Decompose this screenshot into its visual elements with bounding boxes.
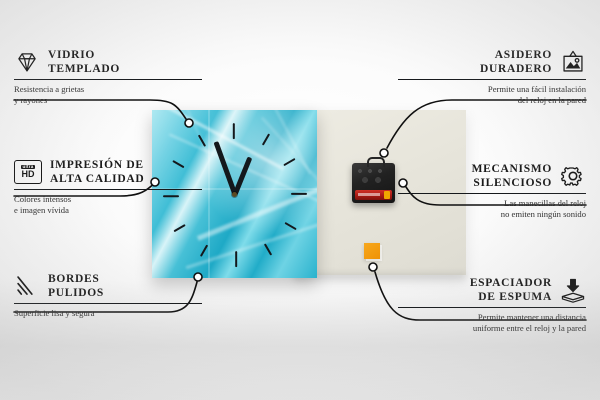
feature-description: Permite mantener una distancia uniforme … — [398, 312, 586, 333]
feature-divider — [14, 79, 202, 80]
feature-title-line2: SILENCIOSO — [473, 177, 552, 189]
feature-description: Superficie lisa y segura — [14, 308, 202, 319]
clock-hub — [232, 192, 237, 197]
clock-tick — [291, 193, 307, 195]
feature-description: Colores intensos e imagen vívida — [14, 194, 202, 215]
feature-title-line1: ASIDERO — [495, 49, 552, 61]
feature-header: VIDRIO TEMPLADO — [14, 48, 202, 76]
arrow-down-onto-pad-icon — [560, 277, 586, 303]
feature-desc-line2: e imagen vívida — [14, 205, 69, 215]
clock-tick — [232, 123, 234, 139]
feature-divider — [398, 79, 586, 80]
battery-plus-terminal — [384, 191, 390, 199]
clock-mechanism — [352, 163, 395, 203]
feature-header: ESPACIADOR DE ESPUMA — [398, 276, 586, 304]
feature-desc-line1: Las manecillas del reloj — [504, 198, 586, 208]
feature-asidero-duradero: ASIDERO DURADERO Permite una fácil insta… — [398, 48, 586, 105]
feature-description: Permite una fácil instalación del reloj … — [398, 84, 586, 105]
feature-desc-line2: del reloj en la pared — [518, 95, 586, 105]
infographic-canvas: VIDRIO TEMPLADO Resistencia a grietas y … — [0, 0, 600, 400]
battery-label — [358, 193, 380, 196]
battery — [355, 190, 392, 200]
feature-desc-line1: Superficie lisa y segura — [14, 308, 94, 318]
feature-impresion-alta-calidad: ultra HD IMPRESIÓN DE ALTA CALIDAD Color… — [14, 158, 202, 215]
feature-title-line2: DE ESPUMA — [478, 291, 552, 303]
polished-edges-icon — [14, 273, 40, 299]
feature-mecanismo-silencioso: MECANISMO SILENCIOSO Las manecillas del … — [398, 162, 586, 219]
feature-desc-line1: Colores intensos — [14, 194, 71, 204]
feature-desc-line2: uniforme entre el reloj y la pared — [473, 323, 586, 333]
feature-description: Resistencia a grietas y rayones — [14, 84, 202, 105]
gear-icon — [560, 163, 586, 189]
feature-desc-line1: Resistencia a grietas — [14, 84, 84, 94]
feature-header: ASIDERO DURADERO — [398, 48, 586, 76]
feature-divider — [14, 303, 202, 304]
feature-title-line1: MECANISMO — [472, 163, 552, 175]
feature-espaciador-de-espuma: ESPACIADOR DE ESPUMA Permite mantener un… — [398, 276, 586, 333]
feature-desc-line2: no emiten ningún sonido — [501, 209, 586, 219]
feature-divider — [14, 189, 202, 190]
diamond-icon — [14, 49, 40, 75]
feature-title-line2: PULIDOS — [48, 287, 104, 299]
feature-desc-line2: y rayones — [14, 95, 47, 105]
clock-tick — [235, 251, 237, 267]
feature-title-line1: BORDES — [48, 273, 100, 285]
feature-title-line2: TEMPLADO — [48, 63, 120, 75]
feature-description: Las manecillas del reloj no emiten ningú… — [398, 198, 586, 219]
feature-title-line1: ESPACIADOR — [470, 277, 552, 289]
feature-title: ASIDERO DURADERO — [480, 48, 552, 76]
feature-bordes-pulidos: BORDES PULIDOS Superficie lisa y segura — [14, 272, 202, 319]
feature-title: IMPRESIÓN DE ALTA CALIDAD — [50, 158, 144, 186]
feature-title-line2: ALTA CALIDAD — [50, 173, 144, 185]
feature-desc-line1: Permite una fácil instalación — [488, 84, 586, 94]
mechanism-detail — [356, 168, 391, 184]
feature-header: ultra HD IMPRESIÓN DE ALTA CALIDAD — [14, 158, 202, 186]
feature-title-line1: VIDRIO — [48, 49, 95, 61]
feature-title: ESPACIADOR DE ESPUMA — [470, 276, 552, 304]
ultra-hd-icon: ultra HD — [14, 160, 42, 184]
feature-vidrio-templado: VIDRIO TEMPLADO Resistencia a grietas y … — [14, 48, 202, 105]
picture-frame-hanger-icon — [560, 49, 586, 75]
feature-title: BORDES PULIDOS — [48, 272, 104, 300]
feature-header: BORDES PULIDOS — [14, 272, 202, 300]
feature-title: VIDRIO TEMPLADO — [48, 48, 120, 76]
ultra-hd-text: HD — [22, 170, 35, 179]
feature-header: MECANISMO SILENCIOSO — [398, 162, 586, 190]
foam-spacer — [364, 243, 380, 259]
feature-divider — [398, 193, 586, 194]
feature-divider — [398, 307, 586, 308]
mechanism-hanger — [367, 157, 385, 167]
feature-desc-line1: Permite mantener una distancia — [478, 312, 586, 322]
feature-title-line2: DURADERO — [480, 63, 552, 75]
feature-title-line1: IMPRESIÓN DE — [50, 159, 144, 171]
feature-title: MECANISMO SILENCIOSO — [472, 162, 552, 190]
